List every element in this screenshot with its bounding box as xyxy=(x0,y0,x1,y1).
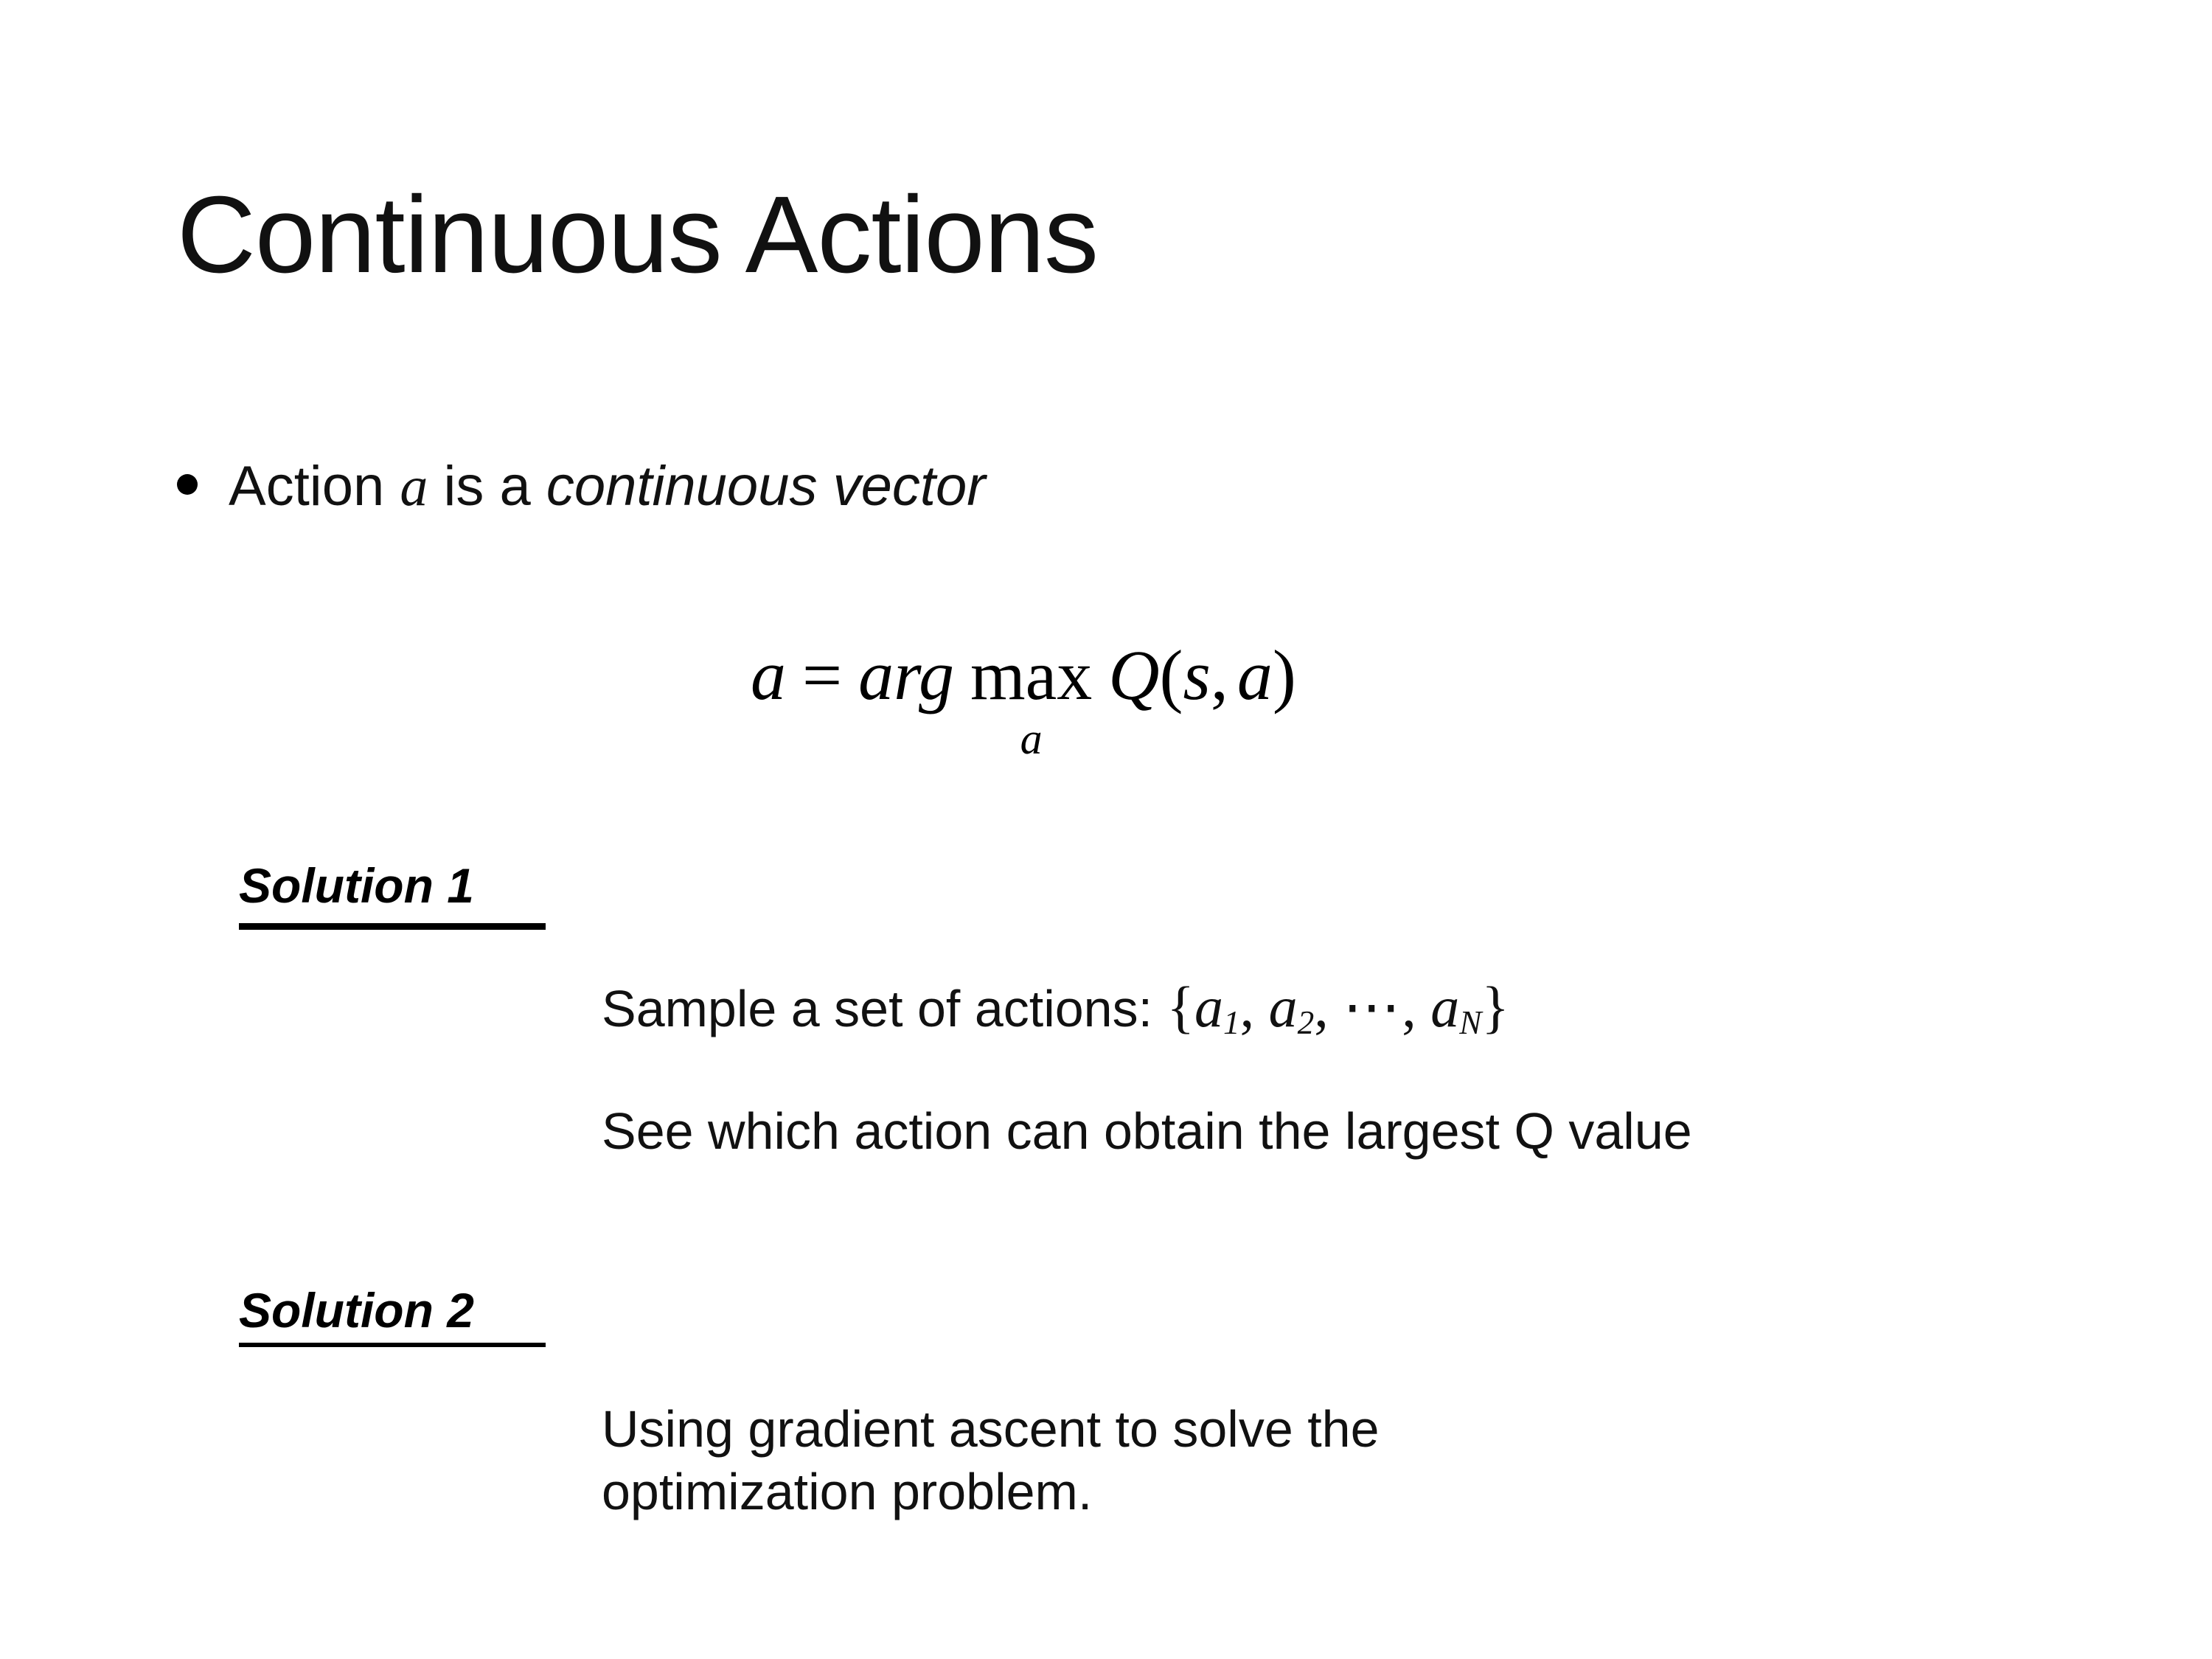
set-item-subscript: N xyxy=(1459,1004,1481,1041)
equation-equals: = xyxy=(802,640,842,711)
bullet-prefix: Action xyxy=(229,455,400,518)
equation-open-paren: ( xyxy=(1160,640,1183,711)
equation-state-symbol: s xyxy=(1183,640,1211,711)
solution-1-line-largest-q: See which action can obtain the largest … xyxy=(602,1100,1692,1163)
bullet-emphasis: continuous vector xyxy=(546,455,986,518)
bullet-dot-icon xyxy=(177,474,198,495)
equation-max-operator: max a xyxy=(970,640,1092,711)
solution-1-heading: Solution 1 xyxy=(239,861,474,910)
set-item-subscript: 2 xyxy=(1298,1004,1315,1041)
solution-1-line-sample: Sample a set of actions: {a1, a2, ⋯, aN} xyxy=(602,972,1509,1043)
equation-lhs: a xyxy=(751,640,786,711)
slide-canvas: Continuous Actions Action a is a continu… xyxy=(0,0,2212,1659)
set-separator: , xyxy=(1314,975,1343,1039)
bullet-middle: is a xyxy=(428,455,546,518)
bullet-text: Action a is a continuous vector xyxy=(229,459,986,515)
equation-q-symbol: Q xyxy=(1108,640,1159,711)
equation-max-subscript: a xyxy=(1020,717,1043,761)
bullet-math-variable: a xyxy=(400,456,428,518)
solution-2-line-gradient-ascent: Using gradient ascent to solve the optim… xyxy=(602,1398,1582,1524)
set-separator: , xyxy=(1240,975,1269,1039)
argmax-equation: a = arg max a Q ( s , a ) xyxy=(751,640,1296,711)
equation-comma: , xyxy=(1211,640,1228,711)
set-ellipsis: ⋯ xyxy=(1343,975,1402,1039)
set-item-subscript: 1 xyxy=(1223,1004,1240,1041)
action-set-math: {a1, a2, ⋯, aN} xyxy=(1167,975,1509,1039)
set-item-symbol: a xyxy=(1430,975,1459,1039)
solution-2-underline xyxy=(239,1343,546,1347)
solution-1-underline xyxy=(239,923,546,930)
solution-2-heading: Solution 2 xyxy=(239,1286,474,1335)
equation-action-symbol: a xyxy=(1237,640,1273,711)
bullet-item-action: Action a is a continuous vector xyxy=(177,459,986,515)
set-item-symbol: a xyxy=(1194,975,1223,1039)
set-close-brace: } xyxy=(1481,975,1509,1039)
equation-arg: arg xyxy=(858,640,954,711)
set-item-symbol: a xyxy=(1269,975,1298,1039)
page-title: Continuous Actions xyxy=(177,174,1098,296)
sample-actions-text: Sample a set of actions: xyxy=(602,980,1167,1037)
equation-close-paren: ) xyxy=(1273,640,1296,711)
set-separator: , xyxy=(1402,975,1430,1039)
set-open-brace: { xyxy=(1167,975,1194,1039)
equation-max-label: max xyxy=(970,640,1092,711)
